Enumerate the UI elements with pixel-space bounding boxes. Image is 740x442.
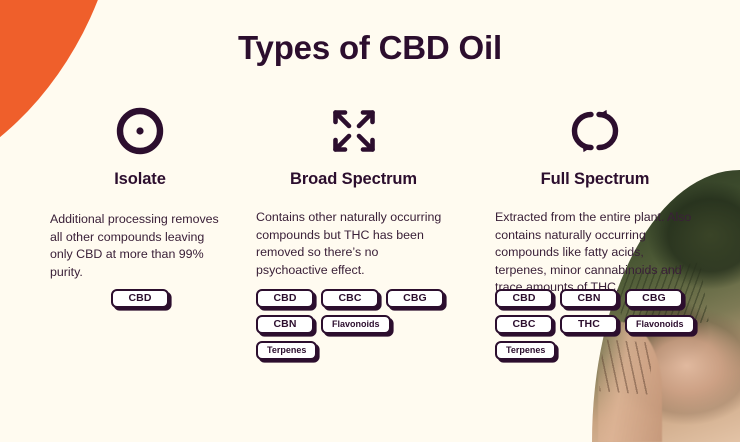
compound-tag[interactable]: THC — [560, 315, 618, 334]
compound-tag[interactable]: CBD — [256, 289, 314, 308]
tag-group-full-spectrum: CBD CBN CBG CBC THC Flavonoids Terpenes — [495, 289, 695, 360]
column-description: Additional processing removes all other … — [50, 211, 230, 281]
column-description: Extracted from the entire plant. Also co… — [495, 209, 695, 297]
four-arrows-expand-icon — [256, 100, 451, 162]
column-broad-spectrum: Broad Spectrum Contains other naturally … — [256, 100, 451, 279]
compound-tag[interactable]: Terpenes — [256, 341, 317, 360]
column-isolate: Isolate Additional processing removes al… — [50, 100, 230, 281]
compound-tag[interactable]: CBD — [111, 289, 169, 308]
column-full-spectrum: Full Spectrum Extracted from the entire … — [495, 100, 695, 297]
column-heading: Full Spectrum — [495, 170, 695, 189]
column-heading: Isolate — [50, 170, 230, 189]
compound-tag[interactable]: CBG — [625, 289, 683, 308]
compound-tag[interactable]: CBN — [560, 289, 618, 308]
compound-tag[interactable]: CBC — [321, 289, 379, 308]
tag-group-isolate: CBD — [50, 289, 230, 308]
tag-group-broad-spectrum: CBD CBC CBG CBN Flavonoids Terpenes — [256, 289, 451, 360]
target-circle-dot-icon — [50, 100, 230, 162]
compound-tag[interactable]: Flavonoids — [625, 315, 695, 334]
cycle-arrows-icon — [495, 100, 695, 162]
compound-tag[interactable]: CBC — [495, 315, 553, 334]
compound-tag[interactable]: Flavonoids — [321, 315, 391, 334]
page-title: Types of CBD Oil — [0, 29, 740, 67]
compound-tag[interactable]: CBG — [386, 289, 444, 308]
column-heading: Broad Spectrum — [256, 170, 451, 189]
columns-container: Isolate Additional processing removes al… — [0, 100, 740, 420]
compound-tag[interactable]: CBN — [256, 315, 314, 334]
column-description: Contains other naturally occurring compo… — [256, 209, 451, 279]
compound-tag[interactable]: CBD — [495, 289, 553, 308]
compound-tag[interactable]: Terpenes — [495, 341, 556, 360]
infographic-canvas: Types of CBD Oil Isolate Additional proc… — [0, 0, 740, 442]
